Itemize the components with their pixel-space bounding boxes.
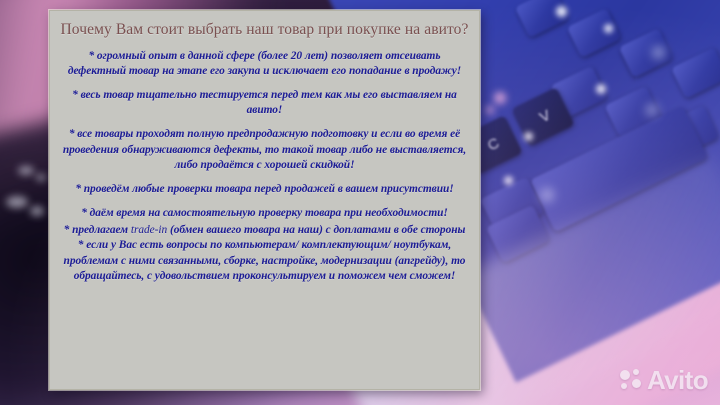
benefit-text-after: (обмен вашего товара на наш) с доплатами…: [167, 224, 465, 236]
benefit-item: * даём время на самостоятельную проверку…: [60, 206, 469, 221]
avito-watermark: Avito: [620, 367, 708, 393]
bokeh-highlight: [646, 104, 658, 116]
avito-dots-icon: [620, 369, 642, 391]
benefit-item-trade-in: * предлагаем trade-in (обмен вашего това…: [60, 223, 469, 238]
benefit-item: * весь товар тщательно тестируется перед…: [60, 88, 469, 118]
bokeh-highlight: [556, 6, 567, 17]
benefit-item: * проведём любые проверки товара перед п…: [60, 182, 469, 197]
bokeh-highlight: [486, 106, 494, 114]
benefit-latin-term: trade-in: [131, 224, 167, 236]
benefits-list: * огромный опыт в данной сфере (более 20…: [60, 49, 469, 284]
benefit-item: * огромный опыт в данной сфере (более 20…: [60, 49, 469, 79]
avito-wordmark: Avito: [647, 367, 708, 393]
card-title: Почему Вам стоит выбрать наш товар при п…: [60, 20, 469, 40]
benefit-item: * если у Вас есть вопросы по компьютерам…: [60, 238, 469, 283]
background-specular-highlight: [18, 166, 34, 175]
bokeh-highlight: [652, 46, 665, 59]
bokeh-highlight: [494, 92, 506, 104]
screenshot-canvas: V C Почему Вам стоит выбрать наш товар п…: [0, 0, 720, 405]
benefit-item: * все товары проходят полную предпродажн…: [60, 127, 469, 172]
background-specular-highlight: [36, 174, 46, 181]
background-specular-highlight: [6, 196, 28, 208]
bokeh-highlight: [524, 132, 533, 141]
background-specular-highlight: [30, 206, 44, 216]
benefit-text-before: * предлагаем: [64, 224, 131, 236]
bokeh-highlight: [604, 24, 613, 33]
bokeh-highlight: [596, 84, 606, 94]
info-card: Почему Вам стоит выбрать наш товар при п…: [49, 10, 480, 390]
bokeh-highlight: [504, 176, 513, 185]
bokeh-highlight: [540, 188, 554, 202]
